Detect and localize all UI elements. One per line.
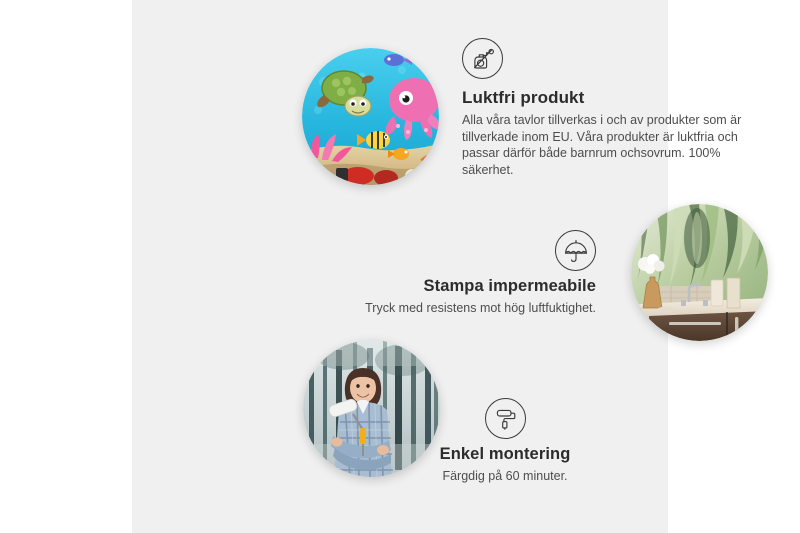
feature-waterproof-title: Stampa impermeabile: [344, 277, 596, 296]
feature-waterproof: Stampa impermeabile Tryck med resistens …: [344, 230, 596, 317]
product-photo-underwater-image: [302, 48, 439, 185]
feature-mounting-description: Färgdig på 60 minuter.: [385, 468, 625, 485]
product-photo-bathroom-image: [631, 204, 768, 341]
paint-roller-icon: [485, 398, 526, 439]
feature-odorless-title: Luktfri produkt: [462, 88, 758, 108]
feature-odorless: Luktfri produkt Alla våra tavlor tillver…: [462, 38, 758, 178]
content-panel: Luktfri produkt Alla våra tavlor tillver…: [132, 0, 668, 533]
umbrella-icon: [555, 230, 596, 271]
feature-mounting-title: Enkel montering: [385, 445, 625, 464]
bathroom-scene-photo: [631, 204, 768, 341]
no-smell-spray-bottle-icon: [462, 38, 503, 79]
paint-roller-glyph: [492, 406, 518, 432]
product-photo-bathroom[interactable]: [631, 204, 768, 341]
feature-odorless-description: Alla våra tavlor tillverkas i och av pro…: [462, 112, 758, 178]
page-root: Luktfri produkt Alla våra tavlor tillver…: [0, 0, 800, 533]
product-photo-underwater[interactable]: [302, 48, 439, 185]
underwater-scene-illustration: [302, 48, 439, 185]
no-smell-spray-bottle-glyph: [470, 46, 496, 72]
feature-mounting: Enkel montering Färgdig på 60 minuter.: [385, 398, 625, 485]
umbrella-glyph: [563, 238, 589, 264]
feature-waterproof-description: Tryck med resistens mot hög luftfuktighe…: [344, 300, 596, 317]
